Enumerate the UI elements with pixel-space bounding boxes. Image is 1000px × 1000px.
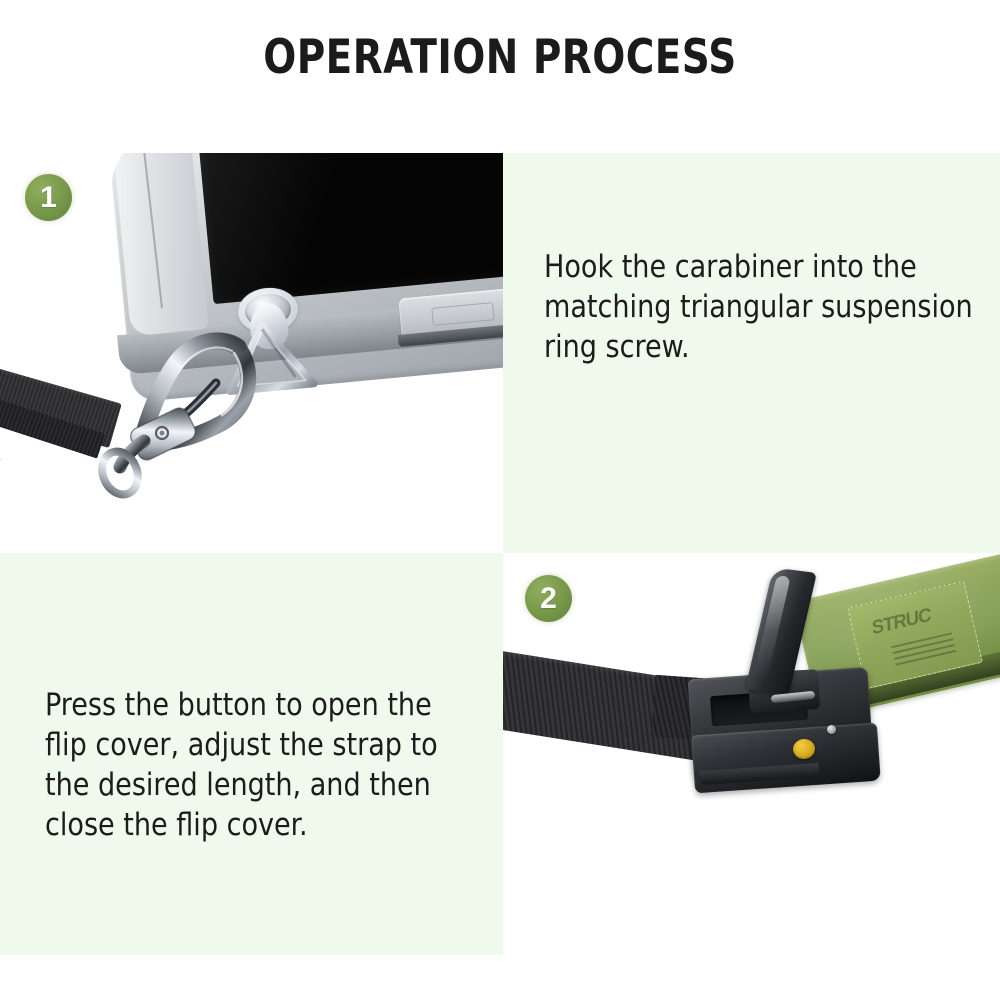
- instruction-graphic: OPERATION PROCESS: [0, 0, 1000, 1000]
- footer-band: [0, 955, 503, 1000]
- step-1-number: 1: [25, 174, 72, 221]
- device-side-grip: [113, 153, 209, 336]
- step-2-text-panel: Press the button to open the flip cover,…: [0, 553, 503, 955]
- step-2-badge: 2: [525, 575, 572, 622]
- step-2-number: 2: [525, 575, 572, 622]
- page-title: OPERATION PROCESS: [40, 30, 960, 85]
- step-1-instruction-text: Hook the carabiner into the matching tri…: [544, 247, 981, 367]
- step-2-photo-panel: STRUC 2: [503, 553, 1000, 1000]
- step-1-photo-panel: 1: [0, 153, 503, 553]
- loose-thread: [0, 445, 19, 464]
- header-band: OPERATION PROCESS: [0, 0, 1000, 153]
- buckle-rivet: [827, 725, 836, 734]
- step-1-text-panel: Hook the carabiner into the matching tri…: [503, 153, 1000, 553]
- step-2-instruction-text: Press the button to open the flip cover,…: [45, 685, 452, 845]
- step-1-badge: 1: [25, 174, 72, 221]
